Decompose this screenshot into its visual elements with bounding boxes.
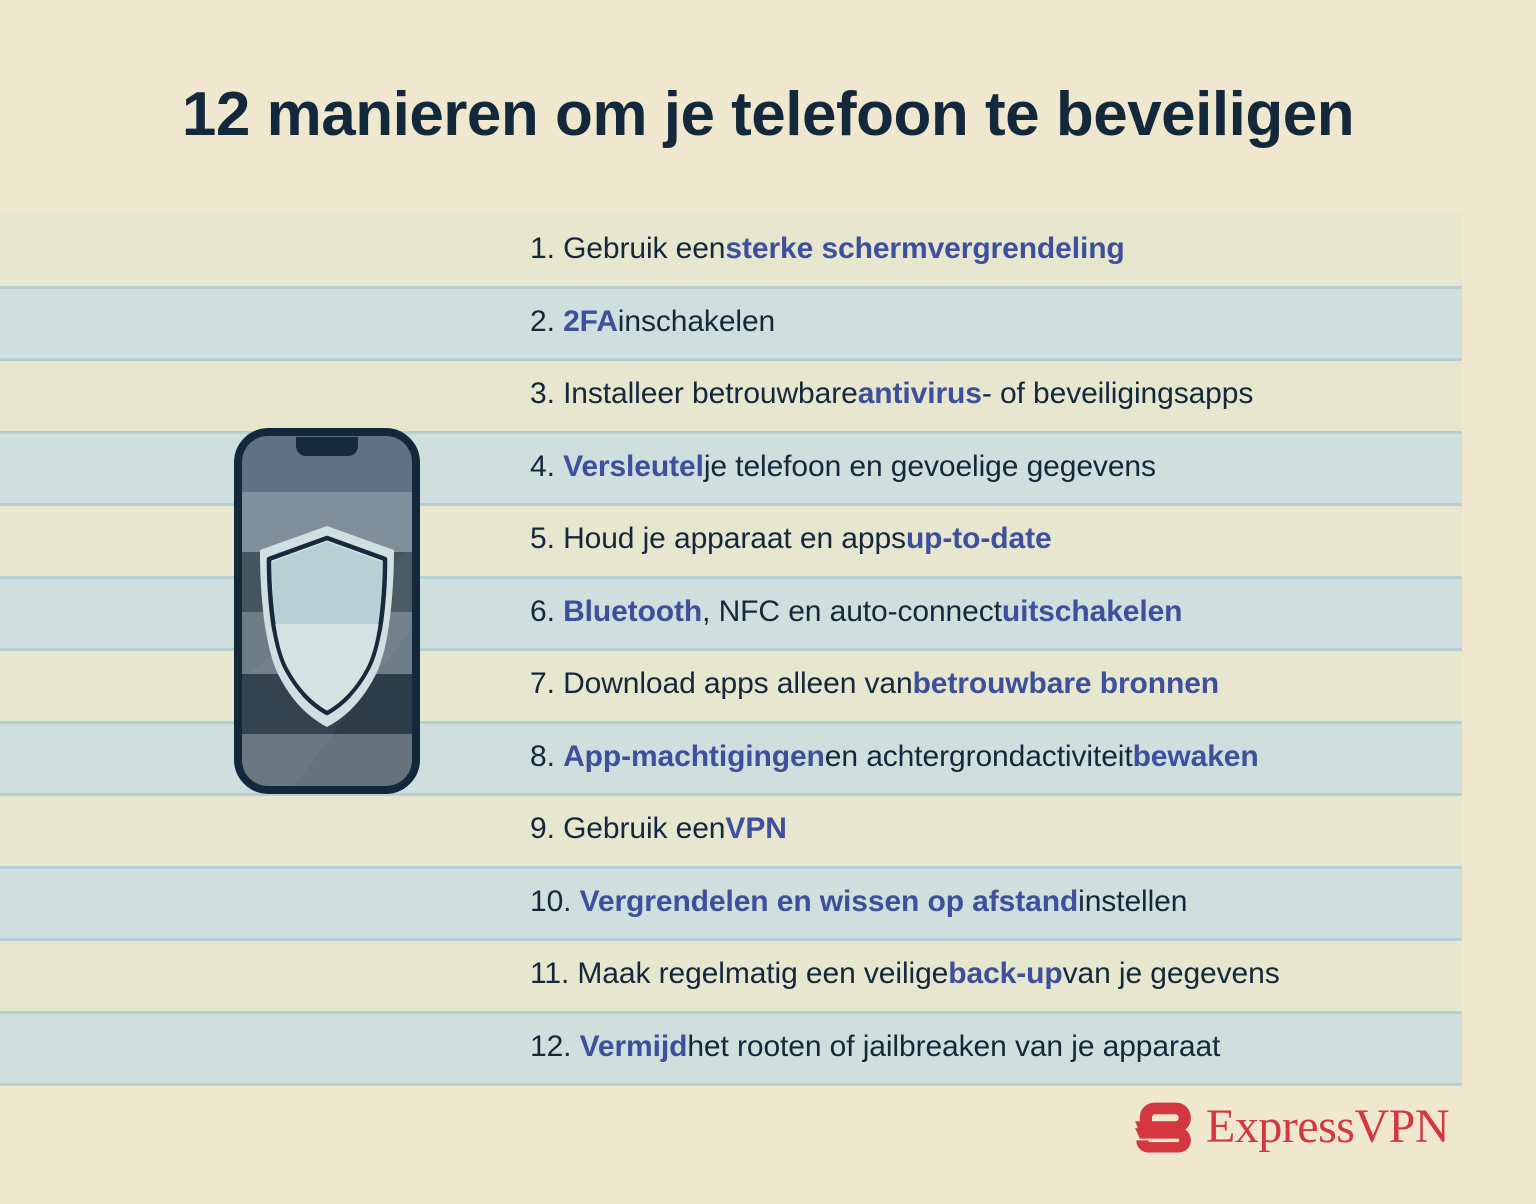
- list-item-number: 8.: [530, 740, 563, 774]
- list-item-keyword: antivirus: [858, 377, 982, 411]
- list-item-text: je telefoon en gevoelige gegevens: [704, 450, 1156, 484]
- list-item-number: 4.: [530, 450, 563, 484]
- list-item-number: 12.: [530, 1030, 580, 1064]
- list-item-keyword: Bluetooth: [563, 595, 702, 629]
- list-item: 2. 2FA inschakelen: [530, 286, 775, 359]
- list-item-text: inschakelen: [618, 305, 775, 339]
- list-item: 4. Versleutel je telefoon en gevoelige g…: [530, 431, 1156, 504]
- list-item: 7. Download apps alleen van betrouwbare …: [530, 648, 1219, 721]
- list-item-number: 9.: [530, 812, 563, 846]
- list-item-text: Gebruik een: [563, 232, 725, 266]
- list-item: 6. Bluetooth, NFC en auto-connect uitsch…: [530, 576, 1182, 649]
- list-item: 12. Vermijd het rooten of jailbreaken va…: [530, 1011, 1220, 1084]
- list-item-text: en achtergrondactiviteit: [825, 740, 1133, 774]
- list-item: 11. Maak regelmatig een veilige back-up …: [530, 938, 1280, 1011]
- list-item-text: Installeer betrouwbare: [563, 377, 858, 411]
- list-item-text: van je gegevens: [1063, 957, 1280, 991]
- list-item-number: 2.: [530, 305, 563, 339]
- list-item-number: 1.: [530, 232, 563, 266]
- list-item-text: , NFC en auto-connect: [702, 595, 1002, 629]
- list-item-keyword: betrouwbare bronnen: [913, 667, 1219, 701]
- expressvpn-logo[interactable]: ExpressVPN: [1134, 1098, 1449, 1156]
- list-item: 1. Gebruik een sterke schermvergrendelin…: [530, 213, 1125, 286]
- list-item-number: 6.: [530, 595, 563, 629]
- list-item: 5. Houd je apparaat en apps up-to-date: [530, 503, 1052, 576]
- list-item-text: Download apps alleen van: [563, 667, 913, 701]
- list-item-text: - of beveiligingsapps: [982, 377, 1253, 411]
- list-item-keyword: Vermijd: [580, 1030, 688, 1064]
- expressvpn-e-mark: [1134, 1098, 1192, 1156]
- list-item: 3. Installeer betrouwbare antivirus- of …: [530, 358, 1253, 431]
- list-item-keyword: up-to-date: [906, 522, 1052, 556]
- list-item: 8. App-machtigingen en achtergrondactivi…: [530, 721, 1259, 794]
- list-item-keyword: back-up: [948, 957, 1062, 991]
- list-item-number: 11.: [530, 957, 577, 991]
- list-item-number: 7.: [530, 667, 563, 701]
- list-item-keyword: bewaken: [1133, 740, 1259, 774]
- list-item: 10. Vergrendelen en wissen op afstand in…: [530, 866, 1187, 939]
- list-item-text: Gebruik een: [563, 812, 725, 846]
- infographic-canvas: 12 manieren om je telefoon te beveiligen…: [0, 0, 1536, 1204]
- list-item-keyword: Versleutel: [563, 450, 704, 484]
- list-item-keyword: 2FA: [563, 305, 618, 339]
- list-item-number: 10.: [530, 885, 580, 919]
- list-item-keyword: uitschakelen: [1002, 595, 1183, 629]
- list-item-text: Maak regelmatig een veilige: [577, 957, 948, 991]
- list-item: 9. Gebruik een VPN: [530, 793, 787, 866]
- expressvpn-wordmark: ExpressVPN: [1206, 1103, 1449, 1151]
- list-item-keyword: Vergrendelen en wissen op afstand: [580, 885, 1079, 919]
- list-item-text: instellen: [1078, 885, 1187, 919]
- list-item-number: 3.: [530, 377, 563, 411]
- smartphone-illustration: [234, 428, 420, 794]
- tips-list: 1. Gebruik een sterke schermvergrendelin…: [0, 0, 1536, 1204]
- list-item-number: 5.: [530, 522, 563, 556]
- list-item-keyword: App-machtigingen: [563, 740, 825, 774]
- list-item-text: het rooten of jailbreaken van je apparaa…: [687, 1030, 1220, 1064]
- list-item-text: Houd je apparaat en apps: [563, 522, 906, 556]
- list-item-keyword: VPN: [725, 812, 786, 846]
- list-item-keyword: sterke schermvergrendeling: [725, 232, 1124, 266]
